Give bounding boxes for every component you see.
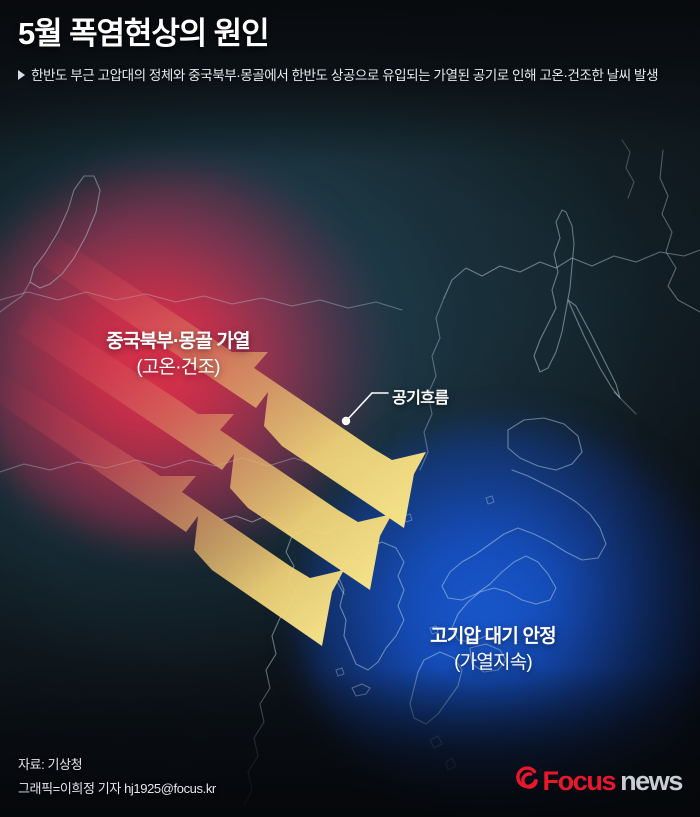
logo-text-news: news (620, 768, 682, 795)
header: 5월 폭염현상의 원인 한반도 부근 고압대의 정체와 중국북부·몽골에서 한반… (0, 0, 700, 87)
label-high-pressure: 고기압 대기 안정 (가열지속) (348, 625, 638, 675)
subtitle-row: 한반도 부근 고압대의 정체와 중국북부·몽골에서 한반도 상공으로 유입되는 … (18, 65, 682, 87)
label-heat-source: 중국북부·몽골 가열 (고온·건조) (28, 330, 328, 380)
label-heat-source-main: 중국북부·몽골 가열 (28, 330, 328, 355)
page-title: 5월 폭염현상의 원인 (18, 16, 682, 53)
infographic-root: 5월 폭염현상의 원인 한반도 부근 고압대의 정체와 중국북부·몽골에서 한반… (0, 0, 700, 817)
airflow-callout-leader (0, 0, 700, 817)
credits-block: 자료: 기상청 그래픽=이희정 기자 hj1925@focus.kr (18, 753, 216, 801)
footer: 자료: 기상청 그래픽=이희정 기자 hj1925@focus.kr Focus… (0, 753, 700, 817)
triangle-right-icon (18, 70, 25, 80)
logo-text-focus: Focus (543, 768, 616, 795)
label-high-pressure-sub: (가열지속) (348, 651, 638, 676)
credit-source: 자료: 기상청 (18, 753, 216, 777)
label-airflow: 공기흐름 (392, 384, 448, 408)
focusnews-logo: Focus news (514, 766, 682, 801)
focus-swirl-icon (514, 766, 540, 797)
subtitle-text: 한반도 부근 고압대의 정체와 중국북부·몽골에서 한반도 상공으로 유입되는 … (31, 65, 658, 87)
label-heat-source-sub: (고온·건조) (28, 356, 328, 381)
label-high-pressure-main: 고기압 대기 안정 (348, 625, 638, 650)
credit-graphic: 그래픽=이희정 기자 hj1925@focus.kr (18, 777, 216, 801)
